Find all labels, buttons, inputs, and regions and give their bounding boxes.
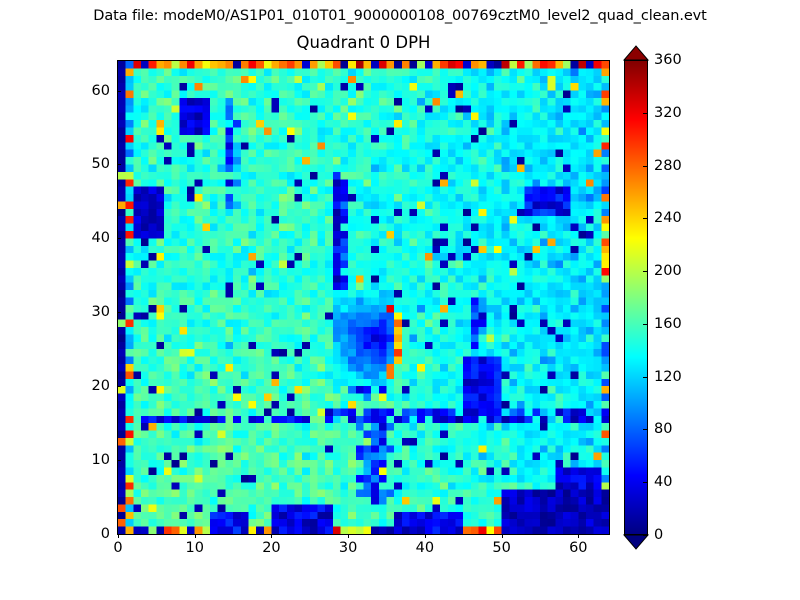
y-tick-mark [117,164,121,165]
colorbar-tick-mark [643,218,648,219]
x-tick-mark [348,534,349,538]
colorbar-tick-label: 320 [654,105,682,121]
y-tick-mark [117,312,121,313]
x-tick-mark [195,534,196,538]
y-tick-mark [117,386,121,387]
colorbar-tick-label: 160 [654,316,682,332]
colorbar-tick-label: 40 [654,474,672,490]
colorbar-tick-mark [643,113,648,114]
x-tick-mark [502,534,503,538]
x-tick-label: 50 [492,540,510,556]
x-tick-mark [578,534,579,538]
figure-suptitle: Data file: modeM0/AS1P01_010T01_90000001… [0,7,800,25]
heatmap-image [118,61,609,534]
y-tick-label: 40 [92,230,110,246]
y-tick-mark [117,238,121,239]
y-tick-label: 10 [92,452,110,468]
x-tick-label: 40 [416,540,434,556]
y-tick-mark [117,91,121,92]
colorbar-axes[interactable] [624,60,648,535]
colorbar-tick-mark [643,429,648,430]
colorbar-tick-mark [643,271,648,272]
y-tick-label: 50 [92,156,110,172]
y-tick-mark [117,460,121,461]
colorbar-tick-label: 120 [654,369,682,385]
y-tick-label: 60 [92,83,110,99]
heatmap-axes[interactable] [117,60,610,535]
y-tick-label: 30 [92,304,110,320]
x-tick-label: 20 [262,540,280,556]
colorbar-tick-label: 280 [654,158,682,174]
colorbar-tick-mark [643,535,648,536]
colorbar-tick-mark [643,166,648,167]
x-tick-label: 0 [113,540,122,556]
y-tick-mark [117,534,121,535]
colorbar-tick-mark [643,60,648,61]
y-tick-label: 0 [101,526,110,542]
colorbar-tick-mark [643,324,648,325]
x-tick-label: 60 [569,540,587,556]
x-tick-mark [271,534,272,538]
x-tick-mark [425,534,426,538]
matplotlib-figure: Data file: modeM0/AS1P01_010T01_90000001… [0,0,800,600]
y-tick-label: 20 [92,378,110,394]
colorbar-tick-label: 200 [654,263,682,279]
colorbar-tick-label: 80 [654,421,672,437]
colorbar-tick-label: 0 [654,527,663,543]
colorbar-gradient [624,60,648,535]
colorbar-tick-label: 240 [654,210,682,226]
colorbar-under-cap [624,535,648,549]
x-tick-label: 30 [339,540,357,556]
colorbar-tick-mark [643,377,648,378]
axes-title: Quadrant 0 DPH [117,33,610,53]
colorbar-over-cap [624,46,648,60]
x-tick-label: 10 [185,540,203,556]
colorbar-tick-mark [643,482,648,483]
colorbar-tick-label: 360 [654,52,682,68]
